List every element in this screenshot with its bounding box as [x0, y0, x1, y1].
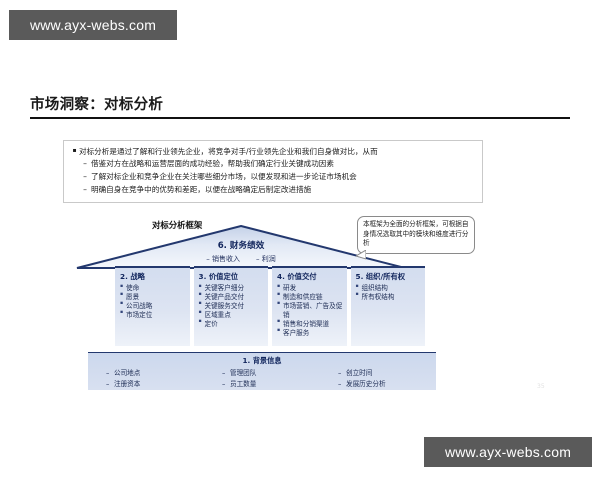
- bullet-sub-text: 明确自身在竞争中的优势和差距，以便在战略确定后制定改进措施: [91, 183, 476, 196]
- framework-foundation[interactable]: 1. 背景信息 公司地点 注册资本 管理团队 员工数量 创立时间 发展历史分析: [88, 352, 436, 390]
- pillar-item: 使命: [120, 284, 186, 293]
- watermark-bottom: www.ayx-webs.com: [424, 437, 592, 467]
- pillar-item: 关键服务交付: [199, 302, 265, 311]
- bullet-main: ▪ 对标分析是通过了解和行业领先企业，将竞争对手/行业领先企业和我们自身做对比，…: [70, 146, 476, 157]
- foundation-item: 注册资本: [106, 379, 204, 390]
- dash-marker-icon: –: [79, 157, 91, 170]
- roof-item: 利润: [256, 254, 276, 264]
- foundation-item: 公司地点: [106, 368, 204, 379]
- pillar-item: 公司战略: [120, 302, 186, 311]
- pillar-item: 制造和供应链: [277, 293, 343, 302]
- pillar-item: 销售和分销渠道: [277, 320, 343, 329]
- pillar-item-list: 使命 愿景 公司战略 市场定位: [120, 284, 186, 320]
- pillar-item: 所有权结构: [356, 293, 422, 302]
- pillar-item: 愿景: [120, 293, 186, 302]
- pillar-item-list: 关键客户细分 关键产品交付 关键服务交付 区域重点 定价: [199, 284, 265, 329]
- pillar-item-list: 组织结构 所有权结构: [356, 284, 422, 302]
- bullet-sub-list: – 借鉴对方在战略和运营层面的成功经验，帮助我们确定行业关键成功因素 – 了解对…: [79, 157, 476, 196]
- summary-text-box: ▪ 对标分析是通过了解和行业领先企业，将竞争对手/行业领先企业和我们自身做对比，…: [63, 140, 483, 203]
- foundation-title: 1. 背景信息: [88, 356, 436, 366]
- bullet-sub-text: 了解对标企业和竞争企业在关注哪些细分市场，以便发现和进一步论证市场机会: [91, 170, 476, 183]
- pillar-item: 客户服务: [277, 329, 343, 338]
- page-title: 市场洞察：对标分析: [30, 93, 163, 117]
- pillar-item: 研发: [277, 284, 343, 293]
- pillar-title: 5. 组织/所有权: [356, 272, 422, 282]
- callout-note: 本框架为全面的分析框架，可根据自身情况选取其中的模块和维度进行分析: [357, 216, 475, 254]
- foundation-item: 管理团队: [222, 368, 320, 379]
- foundation-item: 员工数量: [222, 379, 320, 390]
- callout-tail-icon: [356, 250, 366, 260]
- pillar-value-delivery[interactable]: 4. 价值交付 研发 制造和供应链 市场营销、广告及促销 销售和分销渠道 客户服…: [272, 266, 347, 346]
- foundation-column: 创立时间 发展历史分析: [320, 368, 436, 389]
- pillar-title: 4. 价值交付: [277, 272, 343, 282]
- bullet-marker-icon: ▪: [70, 146, 79, 157]
- bullet-sub-item: – 明确自身在竞争中的优势和差距，以便在战略确定后制定改进措施: [79, 183, 476, 196]
- page-title-bar: 市场洞察：对标分析: [30, 93, 570, 119]
- dash-marker-icon: –: [79, 170, 91, 183]
- pillar-item-list: 研发 制造和供应链 市场营销、广告及促销 销售和分销渠道 客户服务: [277, 284, 343, 338]
- pillar-item: 关键产品交付: [199, 293, 265, 302]
- pillar-title: 2. 战略: [120, 272, 186, 282]
- pillar-item: 定价: [199, 320, 265, 329]
- pillar-item: 关键客户细分: [199, 284, 265, 293]
- pillar-item: 组织结构: [356, 284, 422, 293]
- pillar-item: 市场定位: [120, 311, 186, 320]
- foundation-item: 创立时间: [338, 368, 436, 379]
- bullet-sub-item: – 了解对标企业和竞争企业在关注哪些细分市场，以便发现和进一步论证市场机会: [79, 170, 476, 183]
- page-number: 35: [537, 383, 545, 390]
- framework-pillars: 2. 战略 使命 愿景 公司战略 市场定位 3. 价值定位 关键客户细分 关键产…: [115, 266, 425, 346]
- pillar-title: 3. 价值定位: [199, 272, 265, 282]
- foundation-columns: 公司地点 注册资本 管理团队 员工数量 创立时间 发展历史分析: [88, 368, 436, 389]
- dash-marker-icon: –: [79, 183, 91, 196]
- slide-canvas: www.ayx-webs.com 市场洞察：对标分析 ▪ 对标分析是通过了解和行…: [0, 0, 600, 480]
- foundation-item: 发展历史分析: [338, 379, 436, 390]
- pillar-value-proposition[interactable]: 3. 价值定位 关键客户细分 关键产品交付 关键服务交付 区域重点 定价: [194, 266, 269, 346]
- watermark-top: www.ayx-webs.com: [9, 10, 177, 40]
- pillar-organization-ownership[interactable]: 5. 组织/所有权 组织结构 所有权结构: [351, 266, 426, 346]
- bullet-sub-item: – 借鉴对方在战略和运营层面的成功经验，帮助我们确定行业关键成功因素: [79, 157, 476, 170]
- foundation-column: 公司地点 注册资本: [88, 368, 204, 389]
- pillar-item: 市场营销、广告及促销: [277, 302, 343, 320]
- pillar-strategy[interactable]: 2. 战略 使命 愿景 公司战略 市场定位: [115, 266, 190, 346]
- roof-item: 销售收入: [206, 254, 240, 264]
- bullet-sub-text: 借鉴对方在战略和运营层面的成功经验，帮助我们确定行业关键成功因素: [91, 157, 476, 170]
- pillar-item: 区域重点: [199, 311, 265, 320]
- bullet-main-text: 对标分析是通过了解和行业领先企业，将竞争对手/行业领先企业和我们自身做对比，从而: [79, 146, 476, 157]
- foundation-column: 管理团队 员工数量: [204, 368, 320, 389]
